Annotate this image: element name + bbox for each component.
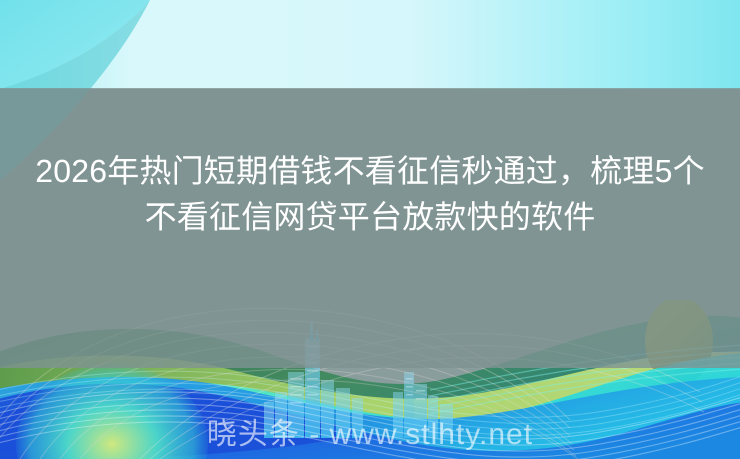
page-title: 2026年热门短期借钱不看征信秒通过，梳理5个不看征信网贷平台放款快的软件 — [0, 148, 740, 240]
poster-image: 2026年热门短期借钱不看征信秒通过，梳理5个不看征信网贷平台放款快的软件 晓头… — [0, 0, 740, 459]
dot-pattern-top-right — [600, 0, 740, 92]
